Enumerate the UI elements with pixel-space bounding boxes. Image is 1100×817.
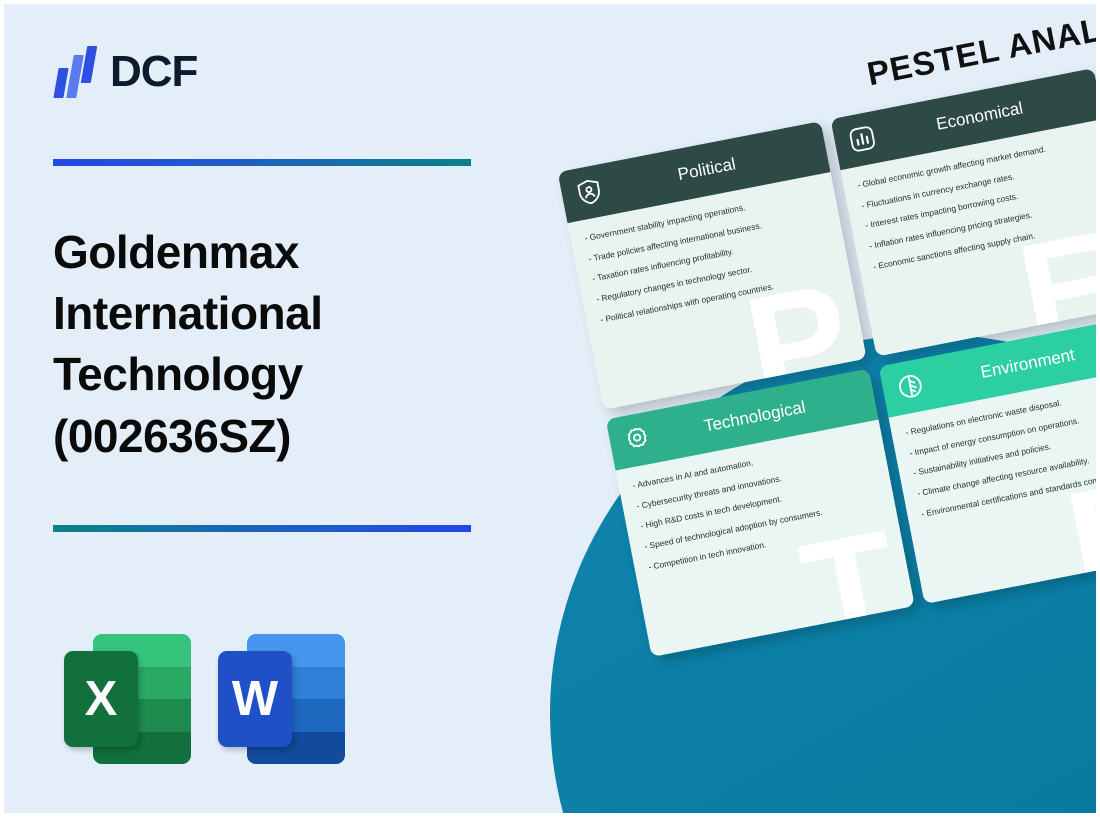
pestel-card-economical: Economical E - Global economic growth af… (830, 68, 1100, 357)
gear-icon (620, 422, 654, 456)
dcf-bars-logo-icon (54, 46, 96, 98)
excel-document-icon[interactable]: X (64, 634, 191, 764)
brand-name: DCF (110, 50, 197, 94)
download-formats: X W (64, 634, 345, 764)
word-letter: W (218, 651, 292, 747)
page-title: Goldenmax International Technology (0026… (53, 222, 483, 467)
word-document-icon[interactable]: W (218, 634, 345, 764)
bar-chart-icon (845, 122, 879, 156)
report-cover-page: DCF Goldenmax International Technology (… (0, 0, 1100, 817)
excel-letter: X (64, 651, 138, 747)
pestel-card-environment: Environment E - Regulations on electroni… (879, 315, 1100, 604)
pestel-card-grid: Political P - Government stability impac… (558, 65, 1100, 682)
pestel-card-political: Political P - Government stability impac… (558, 121, 867, 410)
shield-person-icon (572, 175, 606, 209)
divider-bottom (53, 525, 471, 532)
pestel-card-technological: Technological T - Advances in AI and aut… (606, 368, 915, 657)
dcf-logo[interactable]: DCF (54, 46, 197, 98)
leaf-circle-icon (893, 369, 927, 403)
divider-top (53, 159, 471, 166)
